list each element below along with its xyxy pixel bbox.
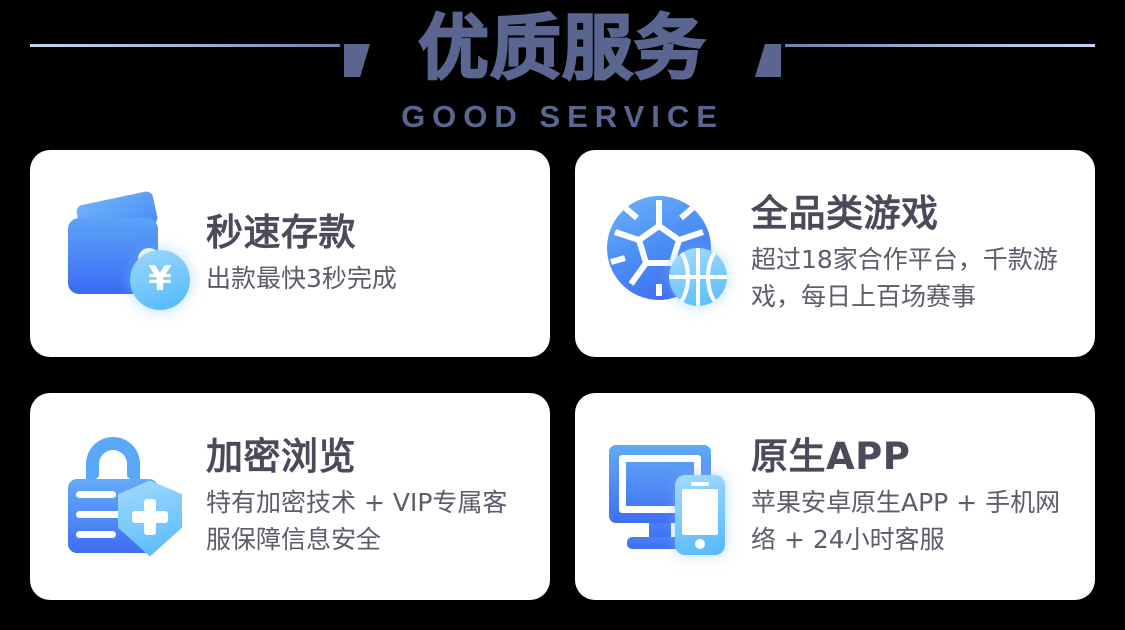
feature-card-text: 秒速存款 出款最快3秒完成 bbox=[206, 211, 532, 297]
lock-shield-icon bbox=[60, 431, 192, 563]
feature-card-games[interactable]: 全品类游戏 超过18家合作平台，千款游戏，每日上百场赛事 bbox=[575, 150, 1095, 357]
feature-description: 出款最快3秒完成 bbox=[206, 260, 532, 297]
phone-speaker-shape bbox=[691, 482, 709, 486]
feature-description: 特有加密技术 + VIP专属客服保障信息安全 bbox=[206, 484, 532, 558]
feature-description: 苹果安卓原生APP + 手机网络 + 24小时客服 bbox=[751, 484, 1077, 558]
yen-coin-icon: ¥ bbox=[130, 250, 190, 310]
feature-title: 全品类游戏 bbox=[751, 192, 1077, 236]
feature-title: 加密浏览 bbox=[206, 435, 532, 479]
feature-card-text: 加密浏览 特有加密技术 + VIP专属客服保障信息安全 bbox=[206, 435, 532, 558]
feature-card-native-app[interactable]: 原生APP 苹果安卓原生APP + 手机网络 + 24小时客服 bbox=[575, 393, 1095, 600]
wallet-yen-icon: ¥ bbox=[60, 188, 192, 320]
feature-card-text: 原生APP 苹果安卓原生APP + 手机网络 + 24小时客服 bbox=[751, 435, 1077, 558]
phone-screen-shape bbox=[682, 489, 718, 535]
feature-card-text: 全品类游戏 超过18家合作平台，千款游戏，每日上百场赛事 bbox=[751, 192, 1077, 315]
phone-home-button bbox=[695, 539, 705, 549]
feature-description: 超过18家合作平台，千款游戏，每日上百场赛事 bbox=[751, 241, 1077, 315]
feature-title: 原生APP bbox=[751, 435, 1077, 479]
feature-title: 秒速存款 bbox=[206, 211, 532, 255]
shield-cross-icon bbox=[132, 511, 168, 523]
page-subtitle: GOOD SERVICE bbox=[0, 99, 1125, 135]
lock-slot-line bbox=[76, 491, 116, 498]
feature-card-encryption[interactable]: 加密浏览 特有加密技术 + VIP专属客服保障信息安全 bbox=[30, 393, 550, 600]
feature-card-grid: ¥ 秒速存款 出款最快3秒完成 bbox=[30, 150, 1095, 600]
monitor-phone-icon bbox=[605, 431, 737, 563]
soccer-basketball-icon bbox=[605, 188, 737, 320]
basketball-icon bbox=[669, 248, 727, 306]
page-title: 优质服务 bbox=[0, 8, 1125, 88]
feature-card-deposit[interactable]: ¥ 秒速存款 出款最快3秒完成 bbox=[30, 150, 550, 357]
lock-slot-line bbox=[76, 531, 116, 538]
page-header: 优质服务 GOOD SERVICE bbox=[0, 0, 1125, 148]
